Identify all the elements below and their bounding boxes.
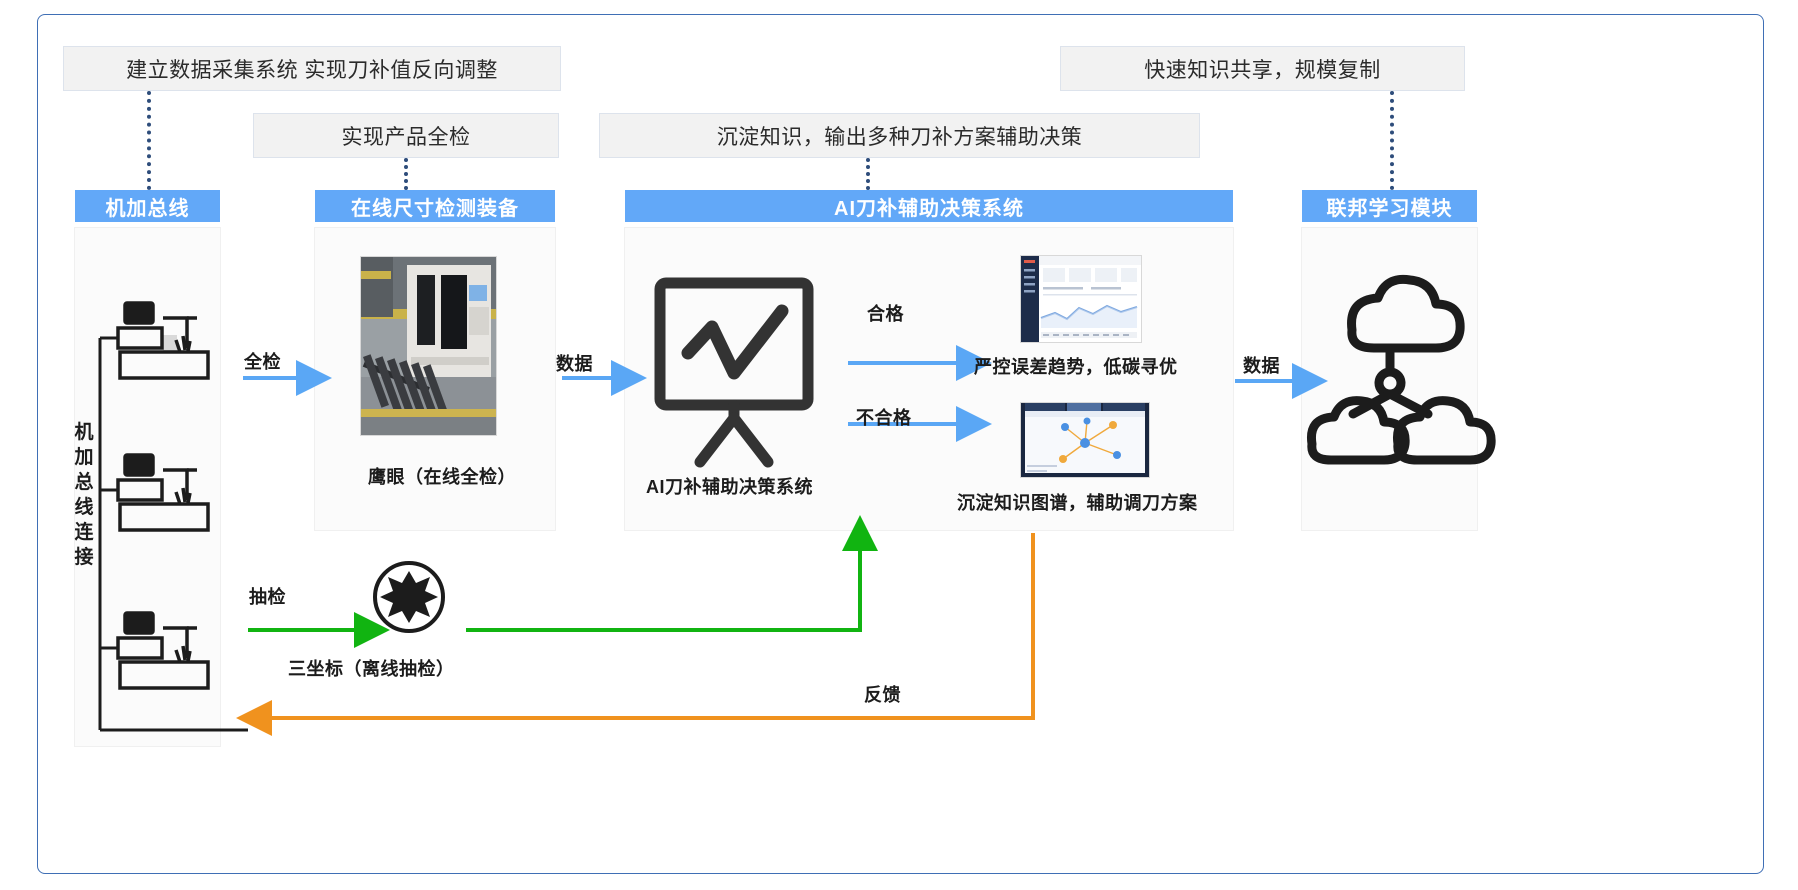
arrow-label-data-right: 数据 [1243, 352, 1280, 378]
arrow-feedback-line [268, 533, 1033, 718]
bus-spine [100, 338, 248, 730]
ai-board-icon [660, 283, 808, 462]
caption-inline-equipment: 鹰眼（在线全检） [368, 463, 516, 489]
arrow-label-pass: 合格 [867, 300, 904, 326]
arrow-label-feedback: 反馈 [864, 681, 901, 707]
arrow-label-fail: 不合格 [856, 404, 912, 430]
caption-ai-system: AI刀补辅助决策系统 [646, 473, 813, 499]
arrow-label-data: 数据 [556, 350, 593, 376]
vertical-bus-label: 机加总线连接 [72, 420, 96, 570]
cloud-network-icon [1311, 279, 1491, 460]
caption-fail-result: 沉淀知识图谱，辅助调刀方案 [957, 489, 1198, 515]
inline-equipment-photo [360, 256, 497, 436]
cmm-icon [375, 563, 443, 631]
arrow-label-sampling: 抽检 [249, 583, 286, 609]
arrow-green-feed-line [466, 547, 860, 630]
fail-knowledge-graph-thumbnail [1020, 402, 1150, 478]
diagram-root: 建立数据采集系统 实现刀补值反向调整 实现产品全检 沉淀知识，输出多种刀补方案辅… [0, 0, 1798, 890]
machine-icon-3 [118, 613, 208, 688]
caption-cmm: 三坐标（离线抽检） [288, 655, 455, 681]
arrow-label-full-inspect: 全检 [244, 348, 281, 374]
machine-icon-1 [118, 303, 208, 378]
caption-pass-result: 严控误差趋势，低碳寻优 [974, 353, 1178, 379]
pass-dashboard-thumbnail [1020, 255, 1142, 343]
machine-icon-2 [118, 455, 208, 530]
diagram-vector-layer [0, 0, 1798, 890]
